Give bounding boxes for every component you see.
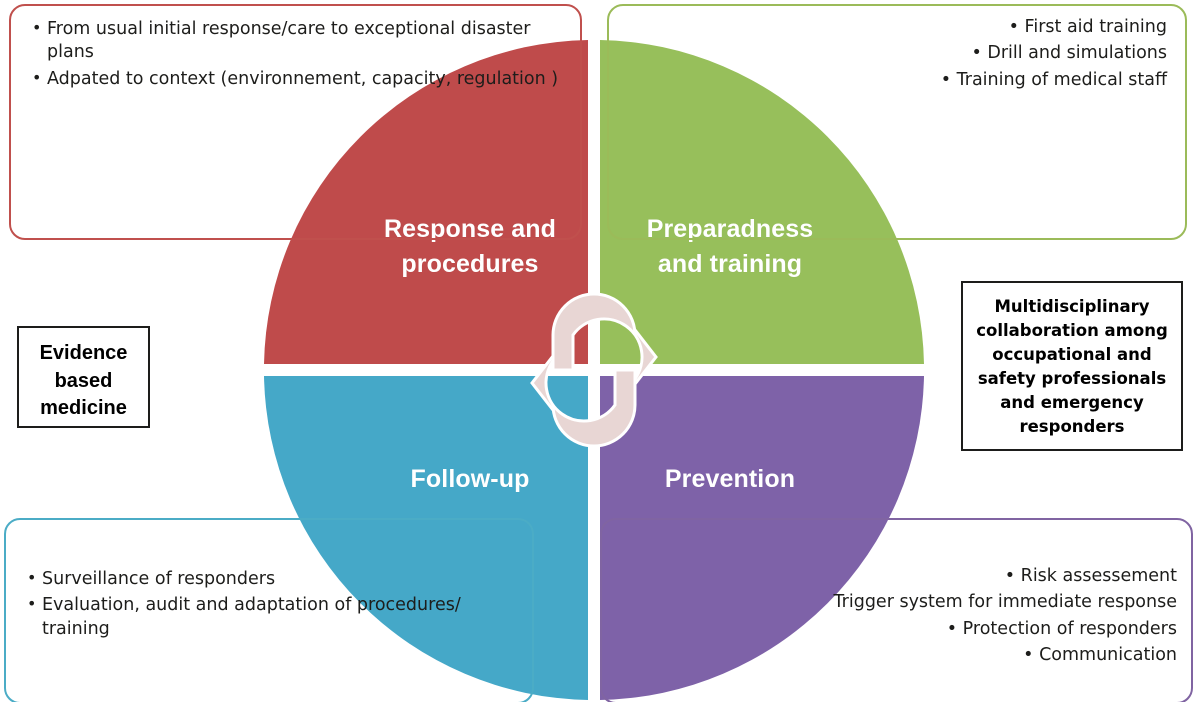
bullet-glyph: • bbox=[1023, 645, 1039, 665]
callout-followup-list: Surveillance of responders Evaluation, a… bbox=[26, 568, 514, 641]
callout-followup-text: Surveillance of responders Evaluation, a… bbox=[6, 520, 532, 641]
callout-box-preparedness: • First aid training • Drill and simulat… bbox=[607, 4, 1187, 240]
callout-box-response: From usual initial response/care to exce… bbox=[9, 4, 582, 240]
note-evidence-based-medicine: Evidence based medicine bbox=[17, 326, 150, 428]
list-item: • Risk assessement bbox=[620, 565, 1177, 588]
callout-preparedness-text: • First aid training • Drill and simulat… bbox=[609, 6, 1185, 92]
list-item: Adpated to context (environnement, capac… bbox=[31, 68, 562, 91]
clockwise-arrow-upper bbox=[553, 294, 656, 384]
callout-box-followup: Surveillance of responders Evaluation, a… bbox=[4, 518, 534, 702]
list-item: From usual initial response/care to exce… bbox=[31, 18, 562, 65]
clockwise-arrow-lower bbox=[532, 356, 635, 446]
list-item: • Training of medical staff bbox=[627, 69, 1167, 92]
callout-response-text: From usual initial response/care to exce… bbox=[11, 6, 580, 91]
bullet-glyph: • bbox=[1009, 17, 1025, 37]
bullet-glyph: • bbox=[971, 43, 987, 63]
list-item: • Drill and simulations bbox=[627, 42, 1167, 65]
callout-box-prevention: • Risk assessement Trigger system for im… bbox=[600, 518, 1193, 702]
callout-preparedness-list: • First aid training • Drill and simulat… bbox=[627, 16, 1167, 92]
callout-prevention-text: • Risk assessement Trigger system for im… bbox=[602, 520, 1191, 667]
bullet-glyph: • bbox=[941, 70, 957, 90]
callout-response-list: From usual initial response/care to exce… bbox=[31, 18, 562, 91]
list-item: • First aid training bbox=[627, 16, 1167, 39]
quadrant-label-prevention: Prevention bbox=[590, 462, 870, 497]
bullet-glyph: • bbox=[947, 619, 963, 639]
list-item: Trigger system for immediate response bbox=[620, 591, 1177, 614]
list-item: Evaluation, audit and adaptation of proc… bbox=[26, 594, 514, 641]
quadrant-label-followup: Follow-up bbox=[330, 462, 610, 497]
list-item: • Communication bbox=[620, 644, 1177, 667]
bullet-glyph: • bbox=[1005, 566, 1021, 586]
diagram-canvas: Response and procedures Preparadness and… bbox=[0, 0, 1197, 702]
list-item: • Protection of responders bbox=[620, 618, 1177, 641]
note-multidisciplinary-collaboration: Multidisciplinary collaboration among oc… bbox=[961, 281, 1183, 451]
callout-prevention-list: • Risk assessement Trigger system for im… bbox=[620, 565, 1177, 667]
list-item: Surveillance of responders bbox=[26, 568, 514, 591]
